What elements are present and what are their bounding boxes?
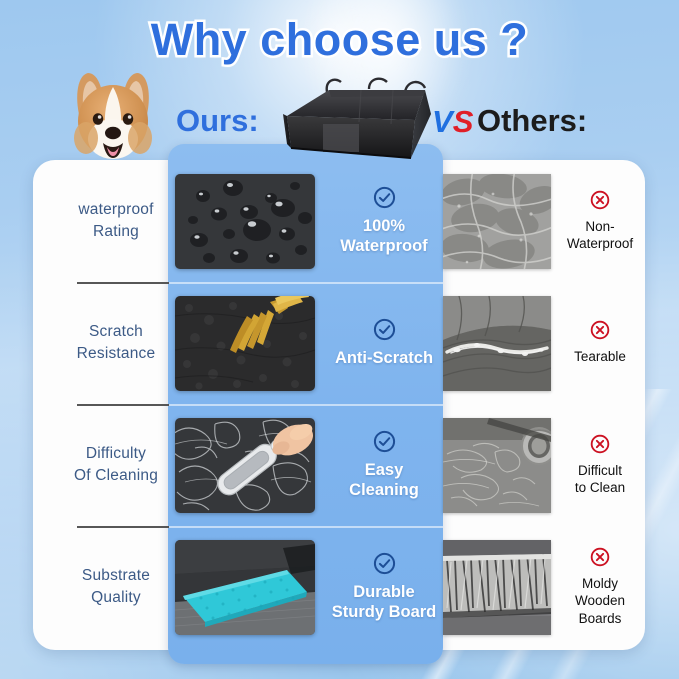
cross-circle-icon [590,320,610,345]
black-car-seat-cover-product [265,76,445,170]
gold-fork-on-leather [175,296,315,391]
ours-cell-substrate: Durable Sturdy Board [323,526,445,648]
ours-column-header: Ours: [176,103,259,139]
others-cell-substrate: Moldy Wooden Boards [557,526,643,648]
corgi-dog-photo [58,63,168,163]
others-column-header: Others: [477,103,587,139]
table-row: Difficulty Of Cleaning [33,404,645,526]
page-title: Why choose us ? [0,14,679,66]
cross-circle-icon [590,190,610,215]
check-circle-icon [373,552,396,580]
others-cell-cleaning: Difficult to Clean [557,404,643,526]
others-label: Moldy Wooden Boards [557,575,643,627]
torn-gray-fabric [443,296,551,391]
others-cell-waterproof: Non- Waterproof [557,160,643,282]
check-circle-icon [373,186,396,214]
criterion-label-substrate-quality: Substrate Quality [49,526,183,648]
comparison-rows: waterproof Rating [33,160,645,650]
ours-label: 100% Waterproof [340,217,427,256]
others-label: Tearable [574,348,626,365]
check-circle-icon [373,430,396,458]
ours-label: Durable Sturdy Board [332,583,437,622]
table-row: Scratch Resistance [33,282,645,404]
criterion-text: Difficulty Of Cleaning [74,443,158,487]
cross-circle-icon [590,434,610,459]
ours-cell-waterproof: 100% Waterproof [323,160,445,282]
infographic-canvas: Why choose us ? [0,0,679,679]
others-label: Non- Waterproof [567,218,633,253]
others-label: Difficult to Clean [575,462,625,497]
ours-cell-scratch: Anti-Scratch [323,282,445,404]
criterion-text: Substrate Quality [82,565,150,609]
vs-letter-s: S [453,104,474,139]
cyan-sturdy-board [175,540,315,635]
moldy-wooden-board [443,540,551,635]
soaked-gray-fabric [443,174,551,269]
dirty-scratched-surface [443,418,551,513]
check-circle-icon [373,318,396,346]
criterion-label-waterproof-rating: waterproof Rating [49,160,183,282]
table-row: waterproof Rating [33,160,645,282]
criterion-text: Scratch Resistance [77,321,156,365]
cross-circle-icon [590,547,610,572]
ours-label: Easy Cleaning [349,461,419,500]
criterion-label-scratch-resistance: Scratch Resistance [49,282,183,404]
ours-cell-cleaning: Easy Cleaning [323,404,445,526]
table-row: Substrate Quality [33,526,645,648]
criterion-text: waterproof Rating [78,199,153,243]
criterion-label-difficulty-of-cleaning: Difficulty Of Cleaning [49,404,183,526]
lint-brush-removing-fur [175,418,315,513]
page-title-text: Why choose us ? [151,14,529,65]
others-cell-scratch: Tearable [557,282,643,404]
ours-label: Anti-Scratch [335,349,433,368]
water-droplets-on-fabric [175,174,315,269]
